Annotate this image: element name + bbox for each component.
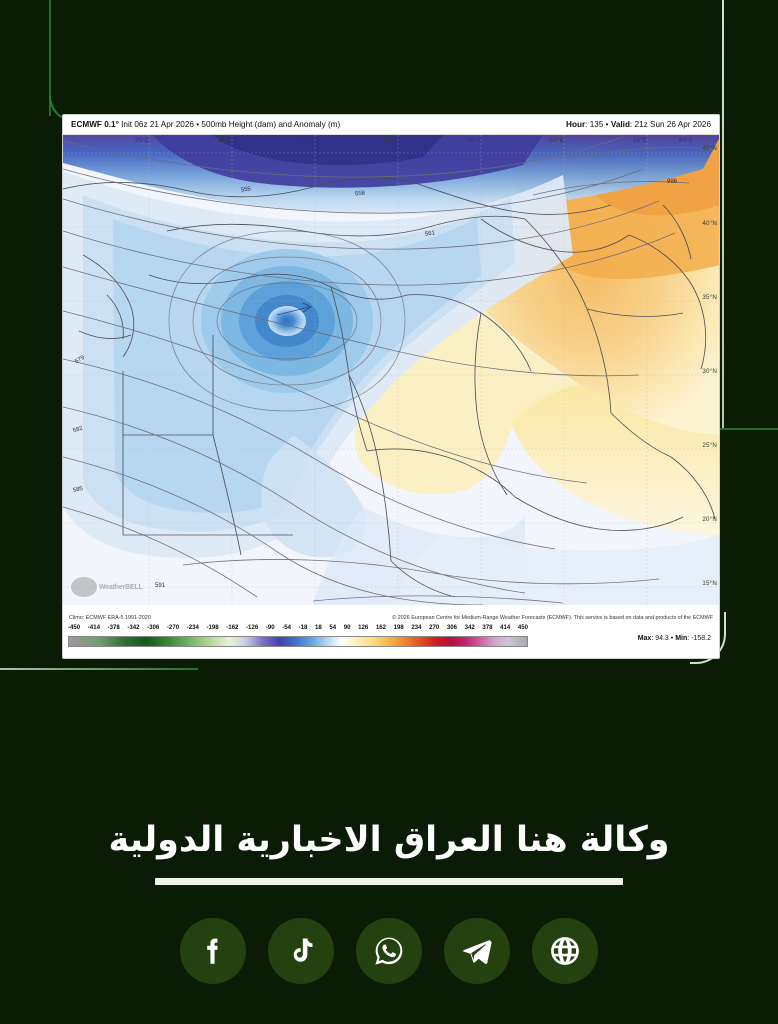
lon-tick-35e: 35°E <box>301 137 315 144</box>
globe-icon <box>548 934 582 968</box>
lon-tick-45e: 45°E <box>467 137 481 144</box>
lon-tick-30e: 30°E <box>218 137 232 144</box>
colorbar-tick-2: -378 <box>108 624 120 635</box>
colorbar-tick-7: -198 <box>206 624 218 635</box>
page-root: ECMWF 0.1° Init 06z 21 Apr 2026 • 500mb … <box>0 0 778 1024</box>
decor-line-top-right <box>722 0 724 428</box>
colorbar-tick-3: -342 <box>127 624 139 635</box>
colorbar-tick-24: 414 <box>500 624 510 635</box>
colorbar-tick-25: 450 <box>518 624 528 635</box>
social-telegram-button[interactable] <box>444 918 510 984</box>
whatsapp-icon <box>372 934 406 968</box>
init-time: Init 06z 21 Apr 2026 <box>121 120 194 129</box>
panel-credits: Climo: ECMWF ERA-5 1991-2020 © 2026 Euro… <box>63 612 719 624</box>
brand-block: وكالة هنا العراق الاخبارية الدولية <box>0 820 778 885</box>
panel-header: ECMWF 0.1° Init 06z 21 Apr 2026 • 500mb … <box>63 115 719 135</box>
colorbar-tick-12: -18 <box>299 624 308 635</box>
agency-title: وكالة هنا العراق الاخبارية الدولية <box>0 820 778 860</box>
colorbar-tick-20: 270 <box>429 624 439 635</box>
social-facebook-button[interactable] <box>180 918 246 984</box>
weatherbell-watermark: WeatherBELL <box>71 577 143 597</box>
colorbar: -450-414-378-342-306-270-234-198-162-126… <box>63 624 719 656</box>
lon-tick-50e: 50°E <box>550 137 564 144</box>
lat-tick-35n: 35°N <box>702 294 717 301</box>
tiktok-icon <box>284 934 318 968</box>
colorbar-tick-4: -306 <box>147 624 159 635</box>
colorbar-tick-15: 90 <box>344 624 351 635</box>
colorbar-tick-17: 162 <box>376 624 386 635</box>
colorbar-tick-18: 198 <box>394 624 404 635</box>
colorbar-tick-6: -234 <box>187 624 199 635</box>
colorbar-minmax: Max: 94.3 • Min: -158.2 <box>638 635 711 642</box>
colorbar-tick-11: -54 <box>282 624 291 635</box>
social-tiktok-button[interactable] <box>268 918 334 984</box>
map-canvas[interactable]: 25°E 30°E 35°E 40°E 45°E 50°E 55°E 60°E … <box>63 135 720 605</box>
weatherbell-wordmark: WeatherBELL <box>99 584 143 591</box>
contour-label-558: 558 <box>355 190 366 197</box>
social-website-button[interactable] <box>532 918 598 984</box>
colorbar-tick-19: 234 <box>411 624 421 635</box>
weatherbell-logo-icon <box>71 577 97 597</box>
colorbar-tick-16: 126 <box>358 624 368 635</box>
facebook-icon <box>196 934 230 968</box>
lat-tick-30n: 30°N <box>702 368 717 375</box>
colorbar-tick-labels: -450-414-378-342-306-270-234-198-162-126… <box>68 624 528 635</box>
colorbar-tick-21: 306 <box>447 624 457 635</box>
min-value: -158.2 <box>691 635 711 642</box>
colorbar-gradient <box>68 636 528 647</box>
colorbar-tick-14: 54 <box>329 624 336 635</box>
lon-tick-25e: 25°E <box>135 137 149 144</box>
lon-tick-55e: 55°E <box>633 137 647 144</box>
header-sep-2: • <box>606 120 609 129</box>
lat-tick-40n: 40°N <box>702 220 717 227</box>
lon-tick-40e: 40°E <box>384 137 398 144</box>
social-whatsapp-button[interactable] <box>356 918 422 984</box>
title-divider <box>155 878 623 885</box>
valid-label: Valid <box>611 120 630 129</box>
contour-label-591: 591 <box>155 583 165 589</box>
field-name: 500mb Height (dam) and Anomaly (m) <box>201 120 340 129</box>
max-value: 94.3 <box>655 635 669 642</box>
colorbar-tick-8: -162 <box>226 624 238 635</box>
max-label: Max <box>638 635 652 642</box>
colorbar-tick-5: -270 <box>167 624 179 635</box>
weather-map-panel: ECMWF 0.1° Init 06z 21 Apr 2026 • 500mb … <box>62 114 720 659</box>
model-name: ECMWF 0.1° <box>71 120 119 129</box>
climo-text: Climo: ECMWF ERA-5 1991-2020 <box>69 615 151 621</box>
map-svg <box>63 135 720 605</box>
panel-header-left: ECMWF 0.1° Init 06z 21 Apr 2026 • 500mb … <box>71 120 340 129</box>
colorbar-tick-10: -90 <box>266 624 275 635</box>
panel-header-right: Hour: 135 • Valid: 21z Sun 26 Apr 2026 <box>566 120 711 129</box>
lat-tick-20n: 20°N <box>702 516 717 523</box>
hour-value: 135 <box>590 120 604 129</box>
copyright-text: © 2026 European Centre for Medium-Range … <box>392 615 713 621</box>
min-label: Min <box>675 635 687 642</box>
minmax-sep: • <box>671 635 673 642</box>
lat-tick-15n: 15°N <box>702 580 717 587</box>
colorbar-tick-22: 342 <box>465 624 475 635</box>
colorbar-tick-13: 18 <box>315 624 322 635</box>
lat-tick-25n: 25°N <box>702 442 717 449</box>
social-links <box>0 918 778 984</box>
colorbar-tick-23: 378 <box>482 624 492 635</box>
lon-tick-60e: 60°E <box>679 137 693 144</box>
contour-label-996: 996 <box>667 179 677 185</box>
colorbar-tick-1: -414 <box>88 624 100 635</box>
decor-line-bottom-left <box>0 668 198 670</box>
header-sep-1: • <box>196 120 199 129</box>
hour-label: Hour <box>566 120 585 129</box>
colorbar-tick-0: -450 <box>68 624 80 635</box>
telegram-icon <box>460 934 494 968</box>
lat-tick-45n: 45°N <box>702 145 717 152</box>
colorbar-tick-9: -126 <box>246 624 258 635</box>
valid-value: 21z Sun 26 Apr 2026 <box>635 120 711 129</box>
